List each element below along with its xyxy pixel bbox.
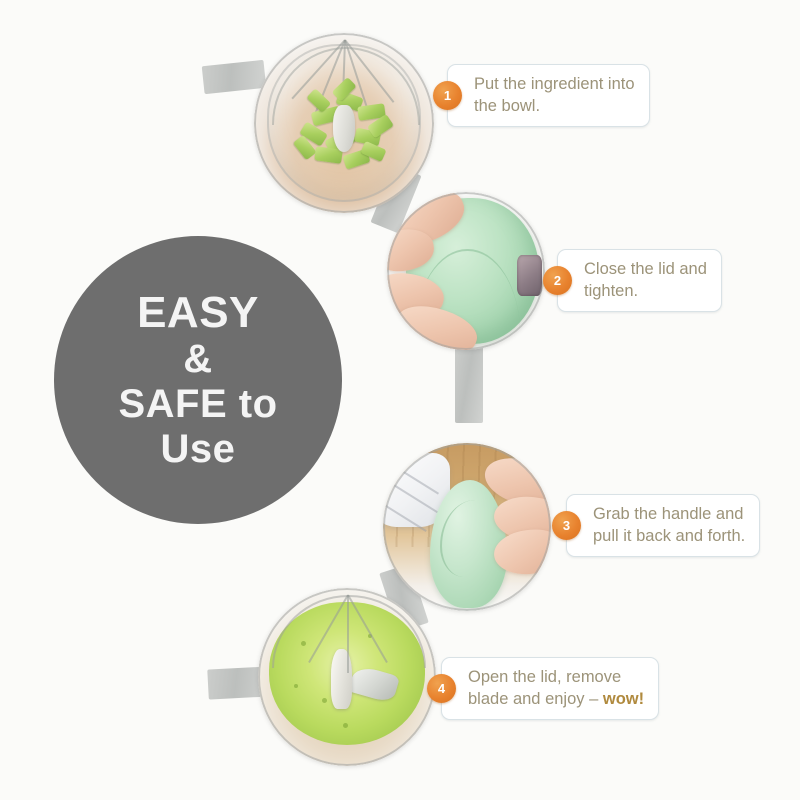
step-2-callout: 2 Close the lid and tighten. xyxy=(557,249,722,312)
infographic-canvas: EASY & SAFE to Use 1 Put the ingredient … xyxy=(0,0,800,800)
step-3-text: Grab the handle and pull it back and for… xyxy=(566,494,760,557)
headline-line-2: & xyxy=(183,337,212,382)
step-2-photo xyxy=(387,192,545,350)
step-4-line-1: Open the lid, remove xyxy=(468,666,644,688)
step-3-line-1: Grab the handle and xyxy=(593,503,745,525)
step-4-callout: 4 Open the lid, remove blade and enjoy –… xyxy=(441,657,659,720)
step-3-badge: 3 xyxy=(552,511,581,540)
headline-line-1: EASY xyxy=(137,288,259,337)
headline-line-3: SAFE to xyxy=(118,382,277,427)
step-3-photo xyxy=(383,443,551,611)
step-1-badge: 1 xyxy=(433,81,462,110)
step-4-line-2-prefix: blade and enjoy – xyxy=(468,690,603,708)
step-4-badge: 4 xyxy=(427,674,456,703)
headline-line-4: Use xyxy=(161,427,236,472)
step-1-line-2: the bowl. xyxy=(474,95,635,117)
step-2-badge: 2 xyxy=(543,266,572,295)
step-2-text: Close the lid and tighten. xyxy=(557,249,722,312)
step-1-text: Put the ingredient into the bowl. xyxy=(447,64,650,127)
ribbon-step2-to-step3 xyxy=(455,345,483,423)
step-1-line-1: Put the ingredient into xyxy=(474,73,635,95)
step-1-callout: 1 Put the ingredient into the bowl. xyxy=(447,64,650,127)
step-3-line-2: pull it back and forth. xyxy=(593,525,745,547)
step-1-photo xyxy=(254,33,434,213)
step-4-text: Open the lid, remove blade and enjoy – w… xyxy=(441,657,659,720)
step-4-photo xyxy=(258,588,436,766)
step-3-callout: 3 Grab the handle and pull it back and f… xyxy=(566,494,760,557)
step-4-line-2: blade and enjoy – wow! xyxy=(468,688,644,710)
step-4-emphasis: wow! xyxy=(603,690,644,708)
step-2-line-1: Close the lid and xyxy=(584,258,707,280)
headline-badge: EASY & SAFE to Use xyxy=(54,236,342,524)
step-2-line-2: tighten. xyxy=(584,280,707,302)
